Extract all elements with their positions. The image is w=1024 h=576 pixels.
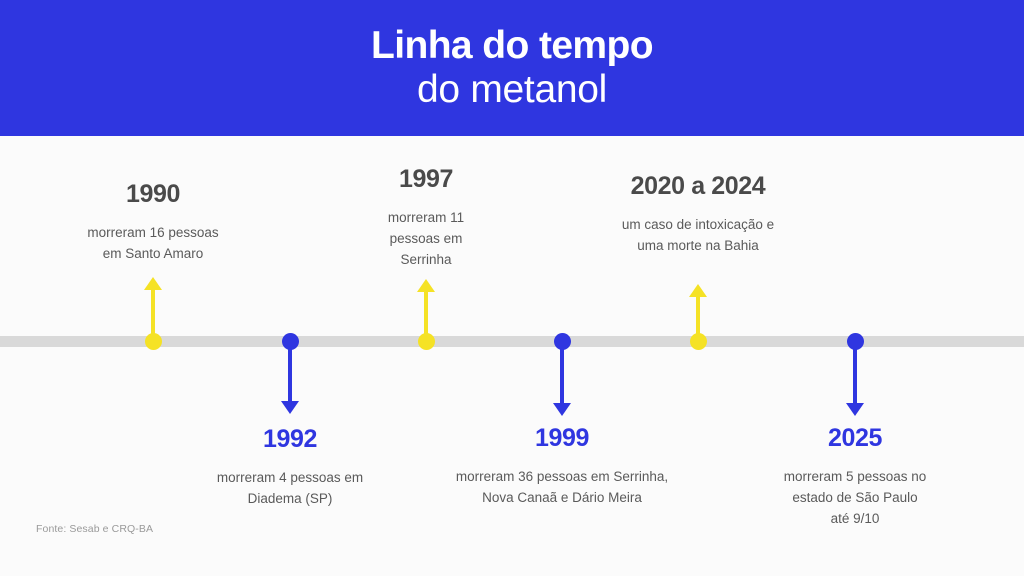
- marker-stem: [288, 341, 292, 401]
- event-year-label: 1992: [180, 425, 400, 454]
- event-description: morreram 16 pessoasem Santo Amaro: [38, 223, 268, 265]
- event-description: morreram 36 pessoas em Serrinha,Nova Can…: [417, 467, 707, 509]
- event-year-label: 1997: [351, 165, 501, 194]
- arrow-down-icon: [281, 401, 299, 414]
- event-description-line: até 9/10: [740, 509, 970, 530]
- event-description-line: uma morte na Bahia: [573, 236, 823, 257]
- arrow-up-icon: [689, 284, 707, 297]
- arrow-down-icon: [846, 403, 864, 416]
- event-year-label: 1990: [38, 180, 268, 209]
- timeline-event-2020-a-2024: 2020 a 2024um caso de intoxicação euma m…: [573, 172, 823, 257]
- event-description: morreram 11pessoas emSerrinha: [351, 208, 501, 271]
- event-description-line: Serrinha: [351, 250, 501, 271]
- timeline-infographic: Linha do tempo do metanol 1990morreram 1…: [0, 0, 1024, 576]
- event-description: morreram 4 pessoas emDiadema (SP): [180, 468, 400, 510]
- event-description-line: morreram 36 pessoas em Serrinha,: [417, 467, 707, 488]
- arrow-up-icon: [144, 277, 162, 290]
- marker-dot-icon: [282, 333, 299, 350]
- event-description-line: Diadema (SP): [180, 489, 400, 510]
- page-title-line-1: Linha do tempo: [371, 25, 653, 67]
- marker-dot-icon: [554, 333, 571, 350]
- event-description-line: Nova Canaã e Dário Meira: [417, 488, 707, 509]
- event-description-line: morreram 11: [351, 208, 501, 229]
- marker-dot-icon: [145, 333, 162, 350]
- marker-dot-icon: [418, 333, 435, 350]
- marker-stem: [560, 341, 564, 403]
- event-description-line: morreram 16 pessoas: [38, 223, 268, 244]
- marker-stem: [853, 341, 857, 403]
- event-description-line: pessoas em: [351, 229, 501, 250]
- timeline-event-1992: 1992morreram 4 pessoas emDiadema (SP): [180, 425, 400, 510]
- event-description: um caso de intoxicação euma morte na Bah…: [573, 215, 823, 257]
- event-year-label: 2020 a 2024: [573, 172, 823, 201]
- event-description-line: morreram 4 pessoas em: [180, 468, 400, 489]
- event-year-label: 1999: [417, 424, 707, 453]
- timeline-event-1990: 1990morreram 16 pessoasem Santo Amaro: [38, 180, 268, 265]
- marker-dot-icon: [847, 333, 864, 350]
- event-description: morreram 5 pessoas noestado de São Paulo…: [740, 467, 970, 530]
- source-note: Fonte: Sesab e CRQ-BA: [36, 523, 153, 535]
- arrow-down-icon: [553, 403, 571, 416]
- marker-dot-icon: [690, 333, 707, 350]
- event-description-line: morreram 5 pessoas no: [740, 467, 970, 488]
- event-description-line: estado de São Paulo: [740, 488, 970, 509]
- event-description-line: um caso de intoxicação e: [573, 215, 823, 236]
- page-title-line-2: do metanol: [417, 67, 607, 113]
- event-year-label: 2025: [740, 424, 970, 453]
- timeline-event-2025: 2025morreram 5 pessoas noestado de São P…: [740, 424, 970, 530]
- arrow-up-icon: [417, 279, 435, 292]
- header-band: Linha do tempo do metanol: [0, 0, 1024, 136]
- event-description-line: em Santo Amaro: [38, 244, 268, 265]
- timeline-event-1997: 1997morreram 11pessoas emSerrinha: [351, 165, 501, 271]
- timeline-event-1999: 1999morreram 36 pessoas em Serrinha,Nova…: [417, 424, 707, 509]
